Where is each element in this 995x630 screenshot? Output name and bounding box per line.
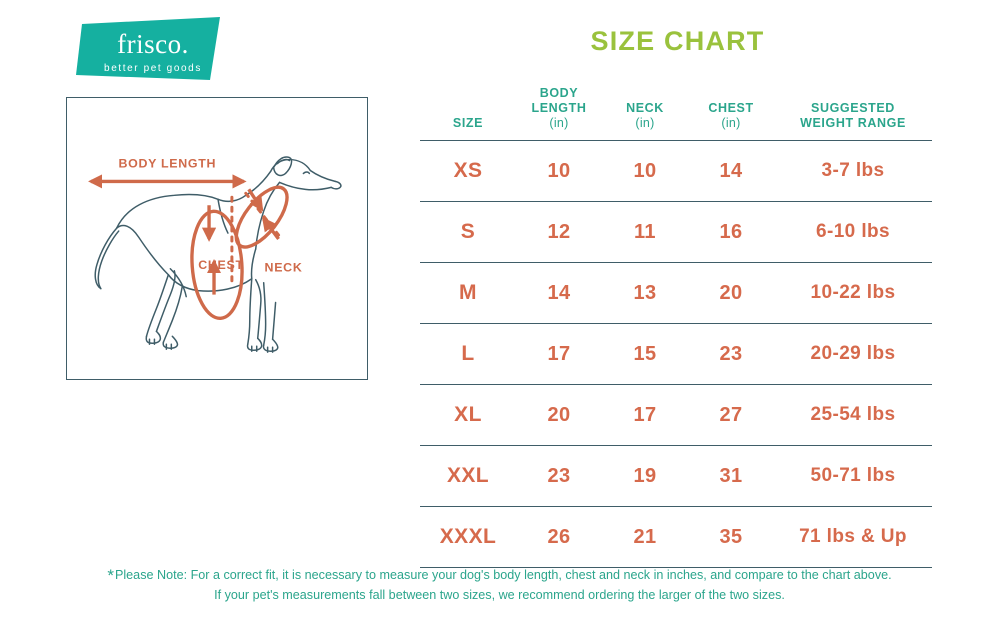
cell-neck: 17 (602, 385, 688, 446)
cell-weight-range: 20-29 lbs (774, 324, 932, 385)
cell-weight-range: 25-54 lbs (774, 385, 932, 446)
table-row: XS1010143-7 lbs (420, 141, 932, 202)
column-header-body-length-line1: BODY (540, 86, 579, 100)
cell-chest: 20 (688, 263, 774, 324)
cell-weight-range: 3-7 lbs (774, 141, 932, 202)
page-title: SIZE CHART (420, 28, 935, 55)
dog-measurement-diagram: BODY LENGTH CHEST NECK (66, 97, 368, 380)
column-header-neck-label: NECK (626, 101, 664, 115)
cell-chest: 16 (688, 202, 774, 263)
body-length-label: BODY LENGTH (118, 157, 216, 171)
chest-label: CHEST (198, 258, 244, 272)
table-header: SIZE BODY LENGTH (in) NECK (in) CHEST (i… (420, 86, 932, 141)
cell-chest: 14 (688, 141, 774, 202)
cell-weight-range: 71 lbs & Up (774, 507, 932, 568)
cell-neck: 11 (602, 202, 688, 263)
cell-size: S (420, 202, 516, 263)
cell-size: M (420, 263, 516, 324)
cell-body-length: 20 (516, 385, 602, 446)
column-header-body-length-line2: LENGTH (532, 101, 587, 115)
logo-text-group: frisco. better pet goods (70, 14, 230, 86)
dog-diagram-svg: BODY LENGTH CHEST NECK (67, 98, 367, 379)
table-row: XXL23193150-71 lbs (420, 446, 932, 507)
cell-weight-range: 10-22 lbs (774, 263, 932, 324)
logo-tagline: better pet goods (104, 64, 202, 74)
column-header-chest: CHEST (in) (688, 86, 774, 141)
asterisk-icon: * (107, 566, 114, 585)
column-header-weight-line1: SUGGESTED (811, 101, 895, 115)
cell-chest: 23 (688, 324, 774, 385)
column-header-size: SIZE (420, 86, 516, 141)
footnote-note: *Please Note: For a correct fit, it is n… (22, 566, 977, 605)
cell-size: XXXL (420, 507, 516, 568)
column-header-weight-range: SUGGESTED WEIGHT RANGE (774, 86, 932, 141)
cell-neck: 13 (602, 263, 688, 324)
footnote-line-1: *Please Note: For a correct fit, it is n… (22, 566, 977, 586)
cell-body-length: 14 (516, 263, 602, 324)
column-header-weight-line2: WEIGHT RANGE (800, 116, 906, 130)
column-header-body-length: BODY LENGTH (in) (516, 86, 602, 141)
cell-neck: 21 (602, 507, 688, 568)
cell-body-length: 17 (516, 324, 602, 385)
cell-chest: 27 (688, 385, 774, 446)
column-header-neck-unit: (in) (602, 116, 688, 131)
cell-size: XL (420, 385, 516, 446)
footnote-line-1-text: Please Note: For a correct fit, it is ne… (115, 568, 892, 582)
table-body: XS1010143-7 lbsS1211166-10 lbsM14132010-… (420, 141, 932, 568)
cell-chest: 31 (688, 446, 774, 507)
table-row: XXXL26213571 lbs & Up (420, 507, 932, 568)
table-header-row: SIZE BODY LENGTH (in) NECK (in) CHEST (i… (420, 86, 932, 141)
cell-neck: 15 (602, 324, 688, 385)
cell-weight-range: 50-71 lbs (774, 446, 932, 507)
size-chart-table: SIZE BODY LENGTH (in) NECK (in) CHEST (i… (420, 86, 932, 568)
frisco-logo: frisco. better pet goods (70, 14, 230, 86)
cell-weight-range: 6-10 lbs (774, 202, 932, 263)
cell-body-length: 23 (516, 446, 602, 507)
cell-chest: 35 (688, 507, 774, 568)
column-header-chest-label: CHEST (708, 101, 753, 115)
neck-label: NECK (265, 261, 303, 275)
table-row: XL20172725-54 lbs (420, 385, 932, 446)
footnote-line-2: If your pet's measurements fall between … (22, 586, 977, 606)
column-header-size-label: SIZE (453, 116, 483, 130)
column-header-neck: NECK (in) (602, 86, 688, 141)
cell-neck: 19 (602, 446, 688, 507)
column-header-chest-unit: (in) (688, 116, 774, 131)
cell-size: L (420, 324, 516, 385)
cell-size: XXL (420, 446, 516, 507)
column-header-body-length-unit: (in) (516, 116, 602, 131)
dog-outline (95, 157, 341, 352)
table-row: M14132010-22 lbs (420, 263, 932, 324)
table-row: L17152320-29 lbs (420, 324, 932, 385)
cell-body-length: 26 (516, 507, 602, 568)
cell-body-length: 10 (516, 141, 602, 202)
table-row: S1211166-10 lbs (420, 202, 932, 263)
cell-body-length: 12 (516, 202, 602, 263)
logo-wordmark: frisco. (117, 31, 189, 58)
cell-size: XS (420, 141, 516, 202)
cell-neck: 10 (602, 141, 688, 202)
